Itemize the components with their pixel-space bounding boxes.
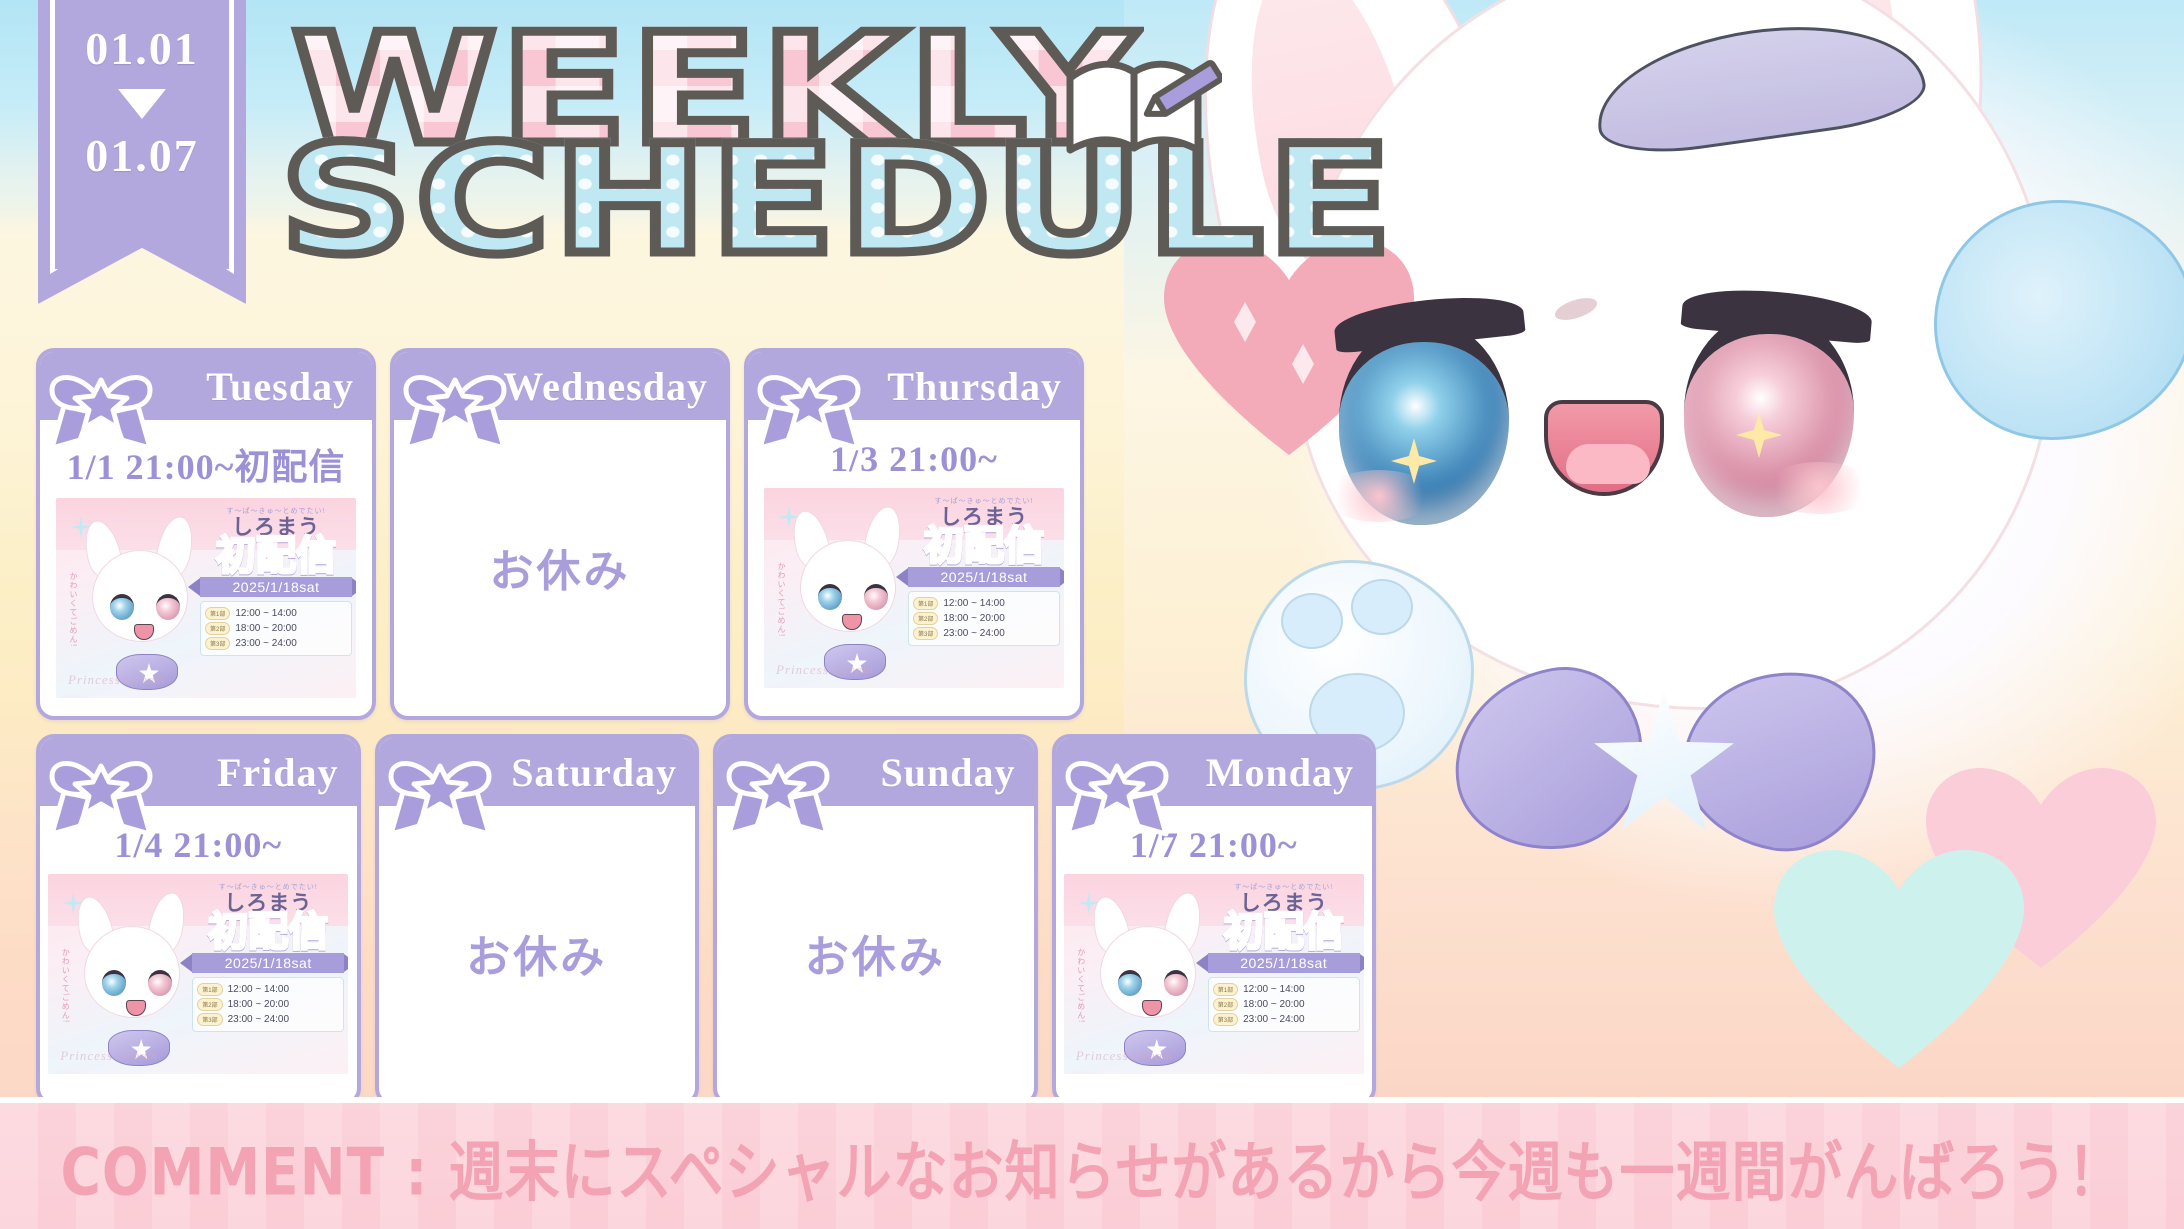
thumbnail-schedule-row: 第2部 18:00 ~ 20:00 [913, 612, 1055, 625]
thumbnail-headline: 初配信 [1208, 913, 1360, 951]
thumbnail-info: す～ぱ～きゅ～とめでたい! しろまう 初配信 2025/1/18sat 第1部 … [200, 506, 352, 656]
day-card-body: お休み [717, 806, 1034, 1102]
part-chip: 第2部 [197, 998, 222, 1011]
thumbnail-schedule-list: 第1部 12:00 ~ 14:00 第2部 18:00 ~ 20:00 第3部 … [908, 591, 1060, 646]
day-card-header: Tuesday [40, 352, 372, 420]
part-time: 12:00 ~ 14:00 [235, 608, 296, 619]
part-time: 12:00 ~ 14:00 [943, 598, 1004, 609]
part-time: 18:00 ~ 20:00 [228, 999, 289, 1010]
day-card-header: Wednesday [394, 352, 726, 420]
thumbnail-tagline: す～ぱ～きゅ～とめでたい! [908, 496, 1060, 506]
day-name-label: Wednesday [503, 363, 708, 410]
date-range-start: 01.01 [85, 22, 199, 75]
day-card-header: Saturday [379, 738, 696, 806]
thumbnail-date: 2025/1/18sat [1208, 953, 1360, 973]
triangle-down-icon [118, 89, 166, 119]
day-name-label: Monday [1206, 749, 1354, 796]
part-chip: 第1部 [197, 983, 222, 996]
thumbnail-signature: Princess Dream [776, 662, 874, 678]
part-time: 23:00 ~ 24:00 [943, 628, 1004, 639]
cloud-fluff-icon [1934, 200, 2184, 440]
thumbnail-signature: Princess Dream [1076, 1048, 1174, 1064]
thumbnail-schedule-row: 第3部 23:00 ~ 24:00 [205, 637, 347, 650]
day-card-body: お休み [379, 806, 696, 1102]
ribbon-bow-icon [385, 742, 497, 846]
stream-thumbnail[interactable]: かわいくてごめん! Princess Dream す～ぱ～きゅ～とめでたい! し… [1064, 874, 1364, 1074]
thumbnail-info: す～ぱ～きゅ～とめでたい! しろまう 初配信 2025/1/18sat 第1部 … [192, 882, 344, 1032]
day-card-tuesday[interactable]: Tuesday 1/1 21:00~初配信 [36, 348, 376, 720]
schedule-row-1: Tuesday 1/1 21:00~初配信 [36, 348, 1376, 720]
thumbnail-date: 2025/1/18sat [192, 953, 344, 973]
stream-thumbnail[interactable]: かわいくてごめん! Princess Dream す～ぱ～きゅ～とめでたい! し… [764, 488, 1064, 688]
title-line-schedule: SCHEDULE [280, 126, 1396, 276]
day-name-label: Tuesday [206, 363, 354, 410]
thumbnail-schedule-row: 第1部 12:00 ~ 14:00 [205, 607, 347, 620]
thumbnail-schedule-row: 第2部 18:00 ~ 20:00 [205, 622, 347, 635]
part-time: 12:00 ~ 14:00 [228, 984, 289, 995]
part-chip: 第2部 [1213, 998, 1238, 1011]
schedule-poster: 01.01 01.07 WEEKLY SCHEDULE [0, 0, 2184, 1229]
thumbnail-signature: Princess Dream [60, 1048, 158, 1064]
weekly-schedule-grid: Tuesday 1/1 21:00~初配信 [36, 348, 1376, 1120]
thumbnail-character [772, 504, 922, 682]
stream-thumbnail[interactable]: かわいくてごめん! Princess Dream す～ぱ～きゅ～とめでたい! し… [56, 498, 356, 698]
day-card-body: 1/1 21:00~初配信 [40, 420, 372, 716]
part-chip: 第2部 [205, 622, 230, 635]
thumbnail-side-text: かわいくてごめん! [68, 572, 79, 647]
day-card-body: 1/4 21:00~ [40, 806, 357, 1102]
day-card-monday[interactable]: Monday 1/7 21:00~ [1052, 734, 1377, 1106]
part-chip: 第1部 [205, 607, 230, 620]
ribbon-bow-icon [400, 356, 512, 460]
thumbnail-date: 2025/1/18sat [200, 577, 352, 597]
thumbnail-info: す～ぱ～きゅ～とめでたい! しろまう 初配信 2025/1/18sat 第1部 … [1208, 882, 1360, 1032]
day-card-thursday[interactable]: Thursday 1/3 21:00~ [744, 348, 1084, 720]
day-card-wednesday[interactable]: Wednesday お休み [390, 348, 730, 720]
day-card-body: 1/3 21:00~ [748, 420, 1080, 716]
rest-day-label: お休み [466, 921, 607, 985]
day-name-label: Saturday [511, 749, 677, 796]
day-name-label: Sunday [881, 749, 1016, 796]
part-time: 23:00 ~ 24:00 [235, 638, 296, 649]
star-bow-icon [1454, 640, 1874, 890]
thumbnail-tagline: す～ぱ～きゅ～とめでたい! [200, 506, 352, 516]
thumbnail-headline: 初配信 [200, 537, 352, 575]
part-chip: 第2部 [913, 612, 938, 625]
rest-day-label: お休み [490, 535, 631, 599]
thumbnail-signature: Princess Dream [68, 672, 166, 688]
thumbnail-schedule-row: 第2部 18:00 ~ 20:00 [1213, 998, 1355, 1011]
part-chip: 第3部 [1213, 1013, 1238, 1026]
part-time: 12:00 ~ 14:00 [1243, 984, 1304, 995]
part-time: 18:00 ~ 20:00 [235, 623, 296, 634]
day-card-sunday[interactable]: Sunday お休み [713, 734, 1038, 1106]
day-card-saturday[interactable]: Saturday お休み [375, 734, 700, 1106]
ribbon-bow-icon [1062, 742, 1174, 846]
ribbon-bow-icon [723, 742, 835, 846]
thumbnail-schedule-list: 第1部 12:00 ~ 14:00 第2部 18:00 ~ 20:00 第3部 … [192, 977, 344, 1032]
thumbnail-headline: 初配信 [192, 913, 344, 951]
thumbnail-schedule-row: 第1部 12:00 ~ 14:00 [197, 983, 339, 996]
thumbnail-date: 2025/1/18sat [908, 567, 1060, 587]
thumbnail-character [56, 890, 206, 1068]
ribbon-bow-icon [754, 356, 866, 460]
thumbnail-schedule-list: 第1部 12:00 ~ 14:00 第2部 18:00 ~ 20:00 第3部 … [200, 601, 352, 656]
part-time: 23:00 ~ 24:00 [228, 1014, 289, 1025]
thumbnail-schedule-row: 第1部 12:00 ~ 14:00 [913, 597, 1055, 610]
thumbnail-schedule-row: 第3部 23:00 ~ 24:00 [913, 627, 1055, 640]
thumbnail-headline: 初配信 [908, 527, 1060, 565]
thumbnail-side-text: かわいくてごめん! [776, 562, 787, 637]
stream-thumbnail[interactable]: かわいくてごめん! Princess Dream す～ぱ～きゅ～とめでたい! し… [48, 874, 348, 1074]
thumbnail-info: す～ぱ～きゅ～とめでたい! しろまう 初配信 2025/1/18sat 第1部 … [908, 496, 1060, 646]
comment-bar: COMMENT : 週末にスペシャルなお知らせがあるから今週も一週間がんばろう！ [0, 1097, 2184, 1229]
day-card-header: Friday [40, 738, 357, 806]
open-book-icon [1052, 36, 1222, 166]
date-range-ribbon: 01.01 01.07 [38, 0, 246, 304]
part-chip: 第3部 [205, 637, 230, 650]
thumbnail-character [1072, 890, 1222, 1068]
day-card-body: お休み [394, 420, 726, 716]
part-time: 18:00 ~ 20:00 [1243, 999, 1304, 1010]
day-name-label: Friday [217, 749, 339, 796]
part-chip: 第1部 [913, 597, 938, 610]
ribbon-bow-icon [46, 742, 158, 846]
day-card-friday[interactable]: Friday 1/4 21:00~ [36, 734, 361, 1106]
part-chip: 第1部 [1213, 983, 1238, 996]
thumbnail-side-text: かわいくてごめん! [1076, 948, 1087, 1023]
thumbnail-schedule-row: 第2部 18:00 ~ 20:00 [197, 998, 339, 1011]
thumbnail-character [64, 514, 214, 692]
rest-day-label: お休み [805, 921, 946, 985]
part-chip: 第3部 [913, 627, 938, 640]
day-name-label: Thursday [887, 363, 1062, 410]
day-card-header: Sunday [717, 738, 1034, 806]
thumbnail-schedule-row: 第3部 23:00 ~ 24:00 [1213, 1013, 1355, 1026]
ribbon-bow-icon [46, 356, 158, 460]
date-range-end: 01.07 [85, 129, 199, 182]
poster-title: WEEKLY SCHEDULE [262, 8, 1182, 254]
schedule-row-2: Friday 1/4 21:00~ [36, 734, 1376, 1106]
character-cheek-right [1764, 462, 1874, 514]
thumbnail-schedule-list: 第1部 12:00 ~ 14:00 第2部 18:00 ~ 20:00 第3部 … [1208, 977, 1360, 1032]
day-card-header: Thursday [748, 352, 1080, 420]
part-time: 23:00 ~ 24:00 [1243, 1014, 1304, 1025]
thumbnail-tagline: す～ぱ～きゅ～とめでたい! [192, 882, 344, 892]
comment-text: COMMENT : 週末にスペシャルなお知らせがあるから今週も一週間がんばろう！ [60, 1119, 2123, 1213]
part-chip: 第3部 [197, 1013, 222, 1026]
part-time: 18:00 ~ 20:00 [943, 613, 1004, 624]
thumbnail-side-text: かわいくてごめん! [60, 948, 71, 1023]
thumbnail-tagline: す～ぱ～きゅ～とめでたい! [1208, 882, 1360, 892]
day-card-header: Monday [1056, 738, 1373, 806]
thumbnail-schedule-row: 第1部 12:00 ~ 14:00 [1213, 983, 1355, 996]
day-card-body: 1/7 21:00~ [1056, 806, 1373, 1102]
thumbnail-schedule-row: 第3部 23:00 ~ 24:00 [197, 1013, 339, 1026]
